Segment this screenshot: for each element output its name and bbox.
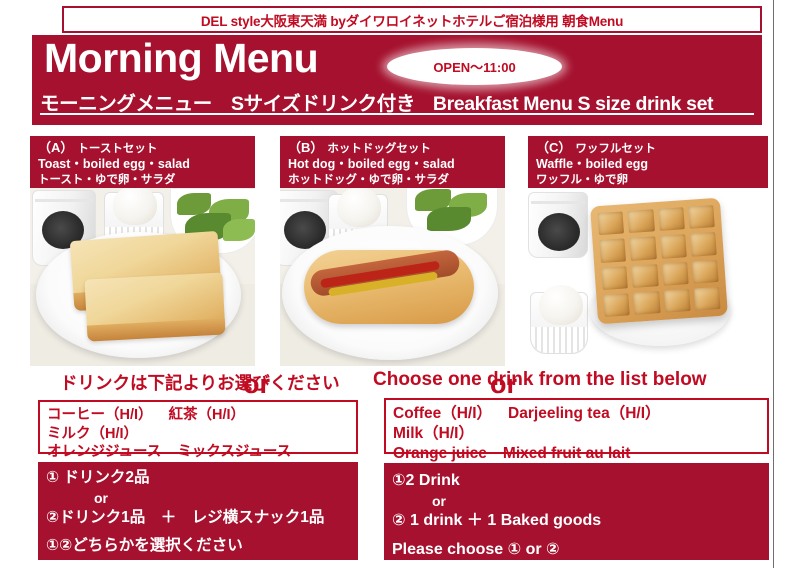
drink-en-milk: Milk（H/I）	[393, 425, 474, 442]
drink-en-orange: Orange juice	[393, 445, 487, 462]
set-a-name-jp: トーストセット	[77, 143, 157, 155]
drink-jp-milk: ミルク（H/I）	[47, 426, 138, 442]
drink-list-en: Coffee（H/I）Darjeeling tea（H/I） Milk（H/I）…	[384, 398, 769, 454]
options-box-en: ①2 Drink or ② 1 drink ＋ 1 Baked goods Pl…	[384, 463, 769, 560]
page-edge-rule	[773, 0, 774, 568]
option-jp-instruction: ①②どちらかを選択ください	[46, 536, 350, 557]
set-c-name-jp: ワッフルセット	[575, 143, 656, 155]
page-title: Morning Menu	[44, 37, 318, 80]
option-jp-1: ① ドリンク2品	[46, 468, 350, 489]
set-b-name-en: Hot dog・boiled egg・salad	[288, 156, 499, 172]
drink-list-jp: コーヒー（H/I）紅茶（H/I） ミルク（H/I） オレンジジュースミックスジュ…	[38, 400, 358, 454]
hotel-name-text: DEL style大阪東天満 byダイワロイネットホテルご宿泊様用 朝食Menu	[201, 10, 623, 30]
banner-underline	[40, 113, 754, 115]
set-b-items-jp: ホットドッグ・ゆで卵・サラダ	[288, 173, 499, 188]
set-a-name-en: Toast・boiled egg・salad	[38, 156, 249, 172]
drink-jp-coffee: コーヒー（H/I）	[47, 407, 153, 423]
set-cards-row: （A）トーストセット Toast・boiled egg・salad トースト・ゆ…	[0, 136, 773, 366]
hot-dog-set-photo	[280, 188, 505, 366]
set-c-items-jp: ワッフル・ゆで卵	[536, 173, 762, 188]
set-c-name-en: Waffle・boiled egg	[536, 156, 762, 172]
set-card-a[interactable]: （A）トーストセット Toast・boiled egg・salad トースト・ゆ…	[30, 136, 255, 366]
set-a-label: （A）トーストセット Toast・boiled egg・salad トースト・ゆ…	[30, 136, 255, 188]
set-c-label: （C）ワッフルセット Waffle・boiled egg ワッフル・ゆで卵	[528, 136, 768, 188]
set-b-name-jp: ホットドッグセット	[327, 143, 431, 155]
drink-row-en-3: Orange juiceMixed fruit au lait	[393, 444, 760, 464]
set-c-code: （C）	[536, 140, 571, 155]
drink-jp-orange: オレンジジュース	[47, 444, 161, 460]
drink-en-mixed: Mixed fruit au lait	[503, 445, 630, 462]
option-en-2: ② 1 drink ＋ 1 Baked goods	[392, 510, 761, 532]
drink-en-tea: Darjeeling tea（H/I）	[508, 405, 660, 422]
drink-heading-en: Choose one drink from the list below	[373, 369, 707, 391]
drink-heading-jp: ドリンクは下記よりお選びください	[60, 370, 340, 395]
open-hours-text: OPEN〜11:00	[433, 57, 515, 76]
waffle-set-photo	[528, 188, 768, 366]
hotel-name-bar: DEL style大阪東天満 byダイワロイネットホテルご宿泊様用 朝食Menu	[62, 6, 762, 33]
option-en-or: or	[392, 492, 761, 511]
banner-subtitle: モーニングメニュー Sサイズドリンク付きBreakfast Menu S siz…	[40, 87, 754, 116]
open-hours-badge: OPEN〜11:00	[387, 48, 562, 85]
morning-menu-page: DEL style大阪東天満 byダイワロイネットホテルご宿泊様用 朝食Menu…	[0, 0, 790, 568]
drink-row-jp-3: オレンジジュースミックスジュース	[47, 443, 349, 462]
drink-row-jp-1: コーヒー（H/I）紅茶（H/I）	[47, 406, 349, 425]
option-en-1: ①2 Drink	[392, 470, 761, 492]
option-en-instruction: Please choose ① or ②	[392, 539, 761, 561]
options-box-jp: ① ドリンク2品 or ②ドリンク1品 ＋ レジ横スナック1品 ①②どちらかを選…	[38, 462, 358, 560]
set-a-code: （A）	[38, 140, 73, 155]
drink-jp-tea: 紅茶（H/I）	[169, 407, 246, 423]
morning-menu-banner: Morning Menu OPEN〜11:00 モーニングメニュー Sサイズドリ…	[32, 35, 762, 125]
set-b-label: （B）ホットドッグセット Hot dog・boiled egg・salad ホッ…	[280, 136, 505, 188]
set-card-b[interactable]: （B）ホットドッグセット Hot dog・boiled egg・salad ホッ…	[280, 136, 505, 366]
set-b-code: （B）	[288, 140, 323, 155]
toast-set-photo	[30, 188, 255, 366]
drink-row-en-1: Coffee（H/I）Darjeeling tea（H/I）	[393, 404, 760, 424]
set-a-items-jp: トースト・ゆで卵・サラダ	[38, 173, 249, 188]
set-card-c[interactable]: （C）ワッフルセット Waffle・boiled egg ワッフル・ゆで卵	[528, 136, 768, 366]
drink-en-coffee: Coffee（H/I）	[393, 405, 492, 422]
option-jp-2: ②ドリンク1品 ＋ レジ横スナック1品	[46, 508, 350, 529]
banner-subtitle-en: Breakfast Menu S size drink set	[433, 93, 713, 115]
drink-row-en-2: Milk（H/I）	[393, 424, 760, 444]
option-jp-or: or	[46, 489, 350, 508]
drink-row-jp-2: ミルク（H/I）	[47, 425, 349, 444]
drink-jp-mixed: ミックスジュース	[177, 444, 291, 460]
banner-subtitle-jp: モーニングメニュー Sサイズドリンク付き	[40, 93, 415, 115]
